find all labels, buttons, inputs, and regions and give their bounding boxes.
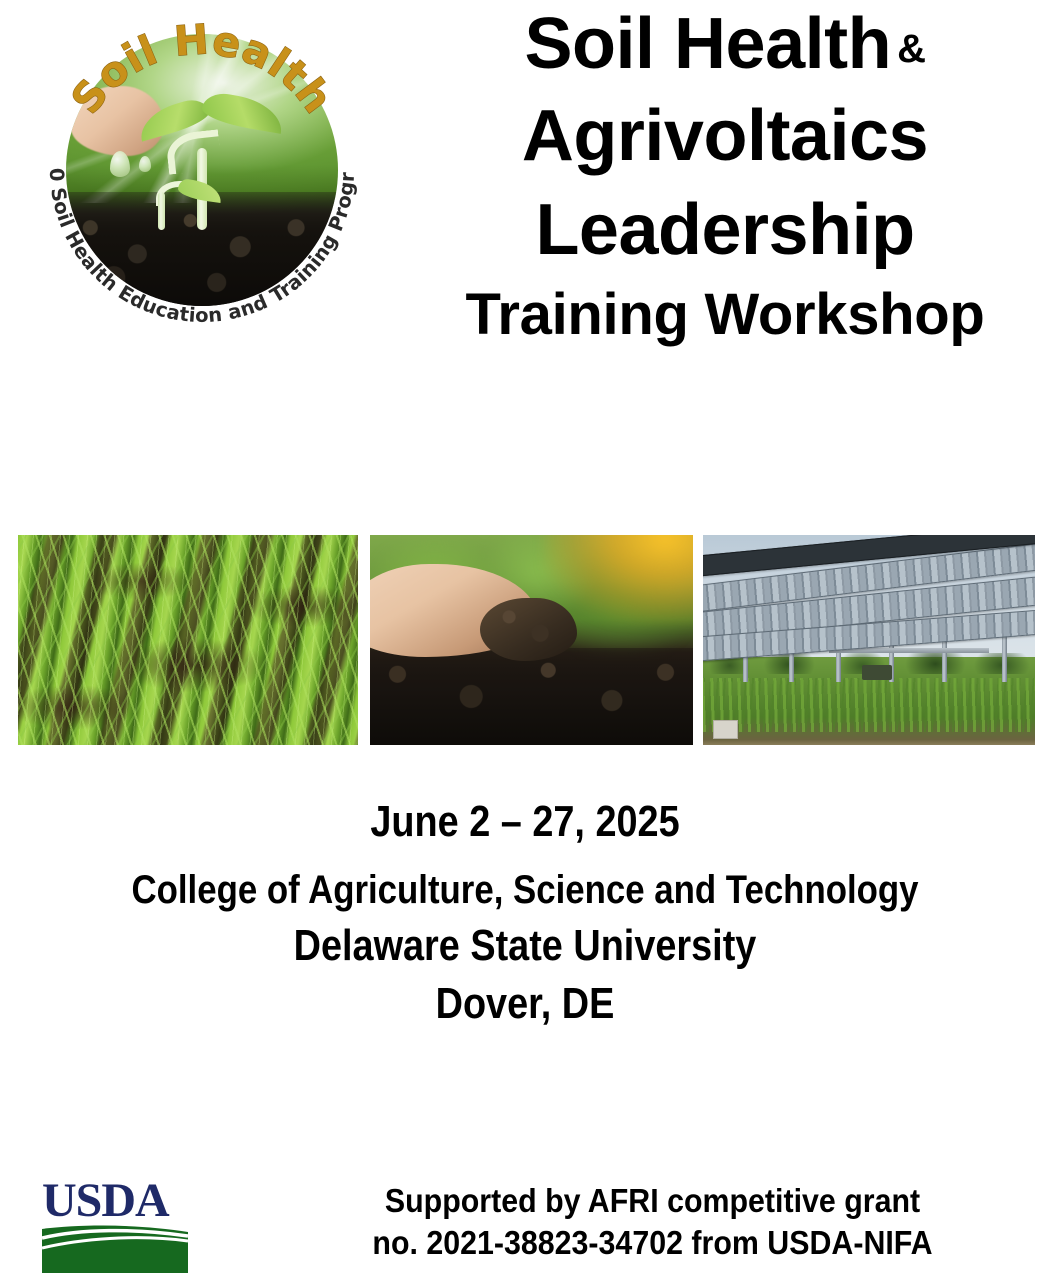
event-university: Delaware State University: [74, 924, 977, 968]
grant-line-2: no. 2021-38823-34702 from USDA-NIFA: [287, 1222, 1018, 1264]
soil-bed: [370, 648, 693, 745]
hand-holding-soil-photo: [370, 535, 693, 745]
soil-clump: [480, 598, 577, 661]
corn-leaf-blades: [18, 535, 358, 745]
grant-acknowledgement: Supported by AFRI competitive grant no. …: [255, 1180, 1050, 1264]
seedling-stem-small: [158, 192, 165, 230]
usda-wordmark: USDA: [42, 1177, 169, 1225]
corn-rows-photo: [18, 535, 358, 745]
usda-landscape-svg: [42, 1223, 188, 1273]
usda-landscape-mark: [42, 1223, 188, 1273]
tractor: [862, 665, 892, 680]
seedling-leaf-right: [200, 90, 286, 134]
usda-logo: USDA: [40, 1177, 190, 1273]
water-drop-icon: [110, 151, 130, 177]
title-text-soil-health: Soil Health: [525, 4, 892, 84]
title-line-agrivoltaics: Agrivoltaics: [400, 100, 1050, 172]
concrete-block: [713, 720, 738, 739]
soil-health-logo: Soil Health 1890 Soil Health Education a…: [28, 4, 368, 334]
title-ampersand: &: [897, 27, 925, 71]
event-details: June 2 – 27, 2025 College of Agriculture…: [0, 800, 1050, 1026]
seedling-hook-large: [165, 129, 222, 174]
title-line-training-workshop: Training Workshop: [400, 286, 1050, 344]
photo-strip: [18, 535, 1035, 745]
title-line-leadership: Leadership: [400, 194, 1050, 266]
event-college: College of Agriculture, Science and Tech…: [68, 870, 982, 910]
flyer-title: Soil Health& Agrivoltaics Leadership Tra…: [400, 0, 1050, 344]
agrivoltaics-photo: [703, 535, 1035, 745]
grant-line-1: Supported by AFRI competitive grant: [287, 1180, 1018, 1222]
title-line-soil-health: Soil Health&: [400, 8, 1050, 80]
logo-photo-disc: [66, 34, 338, 306]
event-city: Dover, DE: [74, 982, 977, 1026]
water-drop-small-icon: [139, 156, 151, 172]
event-dates: June 2 – 27, 2025: [74, 800, 977, 844]
crop-rows: [703, 678, 1035, 733]
